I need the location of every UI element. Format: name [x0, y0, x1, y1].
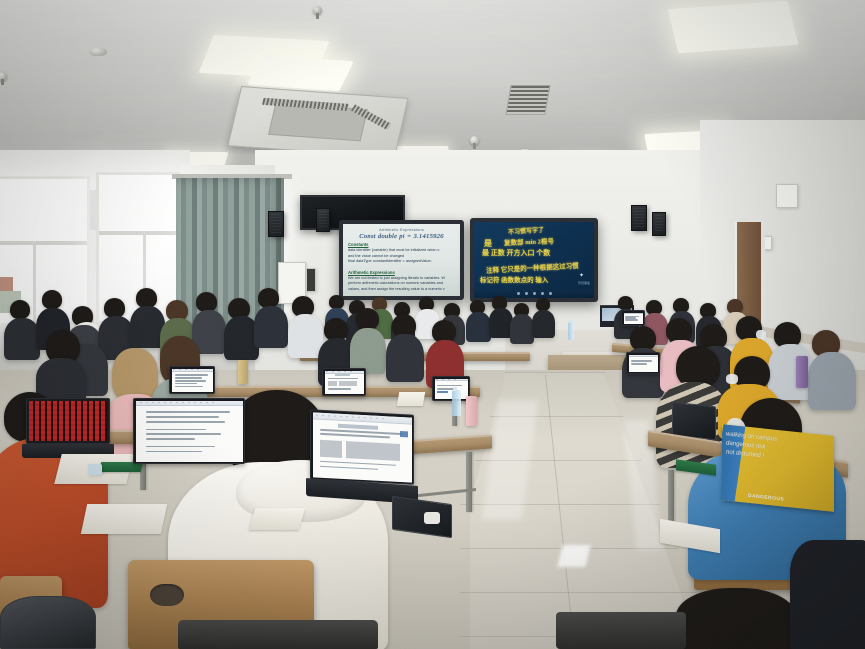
bag-brand-text: DANGEROUS	[748, 493, 784, 503]
doc-text-line	[625, 319, 638, 321]
doc-text-line	[437, 385, 461, 387]
slide-line: values, and then assign the resulting va…	[348, 287, 456, 293]
student-body	[386, 334, 424, 382]
whiteboard-add-icon[interactable]: ✦	[579, 274, 584, 279]
student-head	[136, 288, 157, 308]
student-laptop[interactable]	[621, 310, 645, 326]
whiteboard-handwriting: 最 正数 开方入口 个数	[482, 248, 550, 258]
face-mask	[726, 374, 738, 384]
doc-title-bar	[338, 424, 378, 430]
doc-text-line	[328, 388, 351, 390]
student-head	[356, 308, 379, 330]
student-laptop[interactable]	[133, 398, 245, 464]
sprinkler-head	[313, 6, 322, 15]
doc-text-line	[631, 360, 652, 362]
gaming-laptop[interactable]	[26, 398, 110, 444]
sprinkler-head	[470, 136, 479, 145]
doc-toolbar	[629, 355, 658, 357]
backlit-keyboard[interactable]	[29, 401, 107, 441]
doc-text-line	[175, 374, 208, 376]
ac-cassette-unit	[227, 86, 408, 158]
lecture-slide-screen[interactable]: Arithmetic Expressions Const double pi =…	[339, 220, 464, 300]
doc-text-line	[631, 363, 647, 365]
student-body	[808, 352, 856, 410]
doc-text-line	[146, 411, 229, 413]
doc-text-line	[175, 377, 202, 379]
pen-tool-icon[interactable]	[517, 292, 520, 295]
whiteboard-handwriting: 复数部 min 2根号	[504, 235, 554, 247]
student-head	[10, 300, 30, 319]
laptop-screen	[621, 310, 645, 326]
doc-text-line	[175, 386, 204, 388]
doc-text-line	[146, 416, 219, 418]
shape-tool-icon[interactable]	[533, 292, 536, 295]
water-bottle[interactable]	[568, 322, 574, 340]
notebook-page	[81, 504, 167, 534]
water-bottle[interactable]	[452, 390, 461, 416]
window-mullion	[33, 241, 36, 323]
doc-table-block	[328, 381, 337, 387]
clear-tool-icon[interactable]	[549, 292, 552, 295]
doc-toolbar	[313, 412, 412, 425]
paper-sheet	[249, 508, 305, 530]
slide-header: Arithmetic Expressions	[347, 227, 456, 232]
document-window	[313, 412, 412, 482]
student-laptop[interactable]	[432, 376, 470, 401]
student-body	[790, 540, 865, 649]
led-panel	[247, 55, 353, 92]
ceiling-air-vent	[505, 85, 550, 115]
student-body	[288, 314, 323, 358]
document-window	[172, 369, 213, 392]
tissue-pack	[88, 464, 102, 475]
doc-toolbar	[435, 379, 468, 382]
doc-text-line	[146, 446, 214, 448]
backpack	[0, 596, 96, 649]
laptop-screen	[310, 409, 414, 484]
chair-seat	[178, 620, 378, 649]
pink-thermos[interactable]	[466, 396, 477, 426]
laptop-screen	[133, 398, 245, 464]
doc-text-line	[328, 378, 358, 380]
doc-text-line	[146, 438, 195, 440]
classroom-photo: Arithmetic Expressions Const double pi =…	[0, 0, 865, 649]
student-body	[532, 310, 555, 338]
window-mullion	[99, 231, 177, 235]
student-head	[104, 298, 125, 318]
wall-speaker	[652, 212, 666, 236]
laptop-screen	[26, 398, 110, 444]
bag-print-text: walking on campus dangerous risk not dis…	[726, 431, 831, 469]
laptop-screen	[322, 368, 366, 396]
slide-content: Arithmetic Expressions Const double pi =…	[343, 224, 460, 296]
window-mullion	[0, 241, 87, 245]
student-body	[254, 306, 288, 348]
desk-leg	[466, 452, 472, 512]
slide-heading-constants: Constants	[348, 242, 456, 247]
doc-toolbar	[624, 313, 643, 315]
whiteboard-handwriting: 注释 它只是的一种根据这过习惯	[486, 260, 579, 275]
laptop-screen	[626, 352, 660, 374]
whiteboard-canvas[interactable]: 不习惯写字了 复数部 min 2根号 最 正数 开方入口 个数 注释 它只是的一…	[474, 222, 594, 298]
document-window	[629, 355, 658, 372]
tote-bag: walking on campus dangerous risk not dis…	[722, 424, 834, 512]
laptop-screen	[432, 376, 470, 401]
doc-text-line	[320, 466, 377, 471]
doc-highlight	[437, 391, 448, 393]
doc-text-line	[320, 460, 395, 466]
chair-seat	[556, 612, 686, 649]
whiteboard-handwriting: 不习惯写字了	[508, 225, 545, 236]
outside-view	[0, 277, 13, 291]
thermos-bottle[interactable]	[238, 360, 248, 384]
wall-speaker	[631, 205, 647, 231]
doc-toolbar	[172, 369, 213, 372]
doc-text-line	[146, 451, 202, 453]
document-window	[136, 401, 243, 462]
slide-handwritten-equation: Const double pi = 3.1415926	[347, 233, 456, 240]
whiteboard-handwriting: 是	[484, 238, 492, 249]
smoke-detector	[89, 48, 107, 56]
wall-vent-panel	[776, 184, 798, 208]
slide-heading-arithmetic: Arithmetic Expressions	[348, 270, 456, 275]
doc-toolbar	[136, 401, 243, 406]
student-head	[42, 290, 62, 309]
document-window	[435, 379, 468, 399]
doc-text-line	[175, 380, 206, 382]
student-head	[196, 292, 217, 312]
student-body	[466, 312, 491, 342]
document-window	[325, 371, 364, 394]
laptop-screen	[169, 366, 215, 394]
doc-text-line	[146, 433, 221, 435]
doc-text-line	[146, 421, 225, 423]
undo-tool-icon[interactable]	[541, 292, 544, 295]
doc-text-line	[175, 383, 197, 385]
eraser	[424, 512, 440, 524]
doc-text-line	[146, 429, 206, 431]
floor-light-reflection	[557, 545, 590, 567]
doc-table-block	[346, 441, 399, 461]
paper-sheet	[397, 392, 425, 406]
student-head-foreground	[676, 588, 796, 649]
doc-title-bar	[335, 374, 351, 375]
wall-speaker	[316, 208, 330, 232]
student-laptop[interactable]	[626, 352, 660, 374]
student-body	[510, 314, 534, 344]
student-laptop[interactable]	[169, 366, 215, 394]
purple-tumbler[interactable]	[796, 356, 808, 388]
student-head	[258, 288, 279, 308]
led-panel	[668, 1, 799, 54]
whiteboard-handwriting: 标记符 函数数点的 输入	[480, 274, 548, 284]
slide-line: final dataType constantIdentifier = assi…	[348, 259, 456, 265]
student-laptop[interactable]	[310, 409, 414, 484]
face-mask	[756, 330, 766, 339]
doc-table-block	[339, 381, 358, 387]
chair-hand-cutout	[150, 584, 184, 606]
student-laptop[interactable]	[322, 368, 366, 396]
doc-sidebar-icon	[400, 431, 408, 438]
eraser-tool-icon[interactable]	[525, 292, 528, 295]
digital-whiteboard[interactable]: 不习惯写字了 复数部 min 2根号 最 正数 开方入口 个数 注释 它只是的一…	[470, 218, 598, 302]
doc-table-block	[320, 440, 342, 458]
wall-intercom[interactable]	[306, 268, 316, 292]
wall-speaker	[268, 211, 284, 237]
student-head	[618, 296, 633, 310]
document-window	[624, 313, 643, 324]
student-head	[329, 295, 344, 309]
whiteboard-toolbar[interactable]	[474, 289, 594, 298]
whiteboard-brand-badge: 智慧黑板	[578, 281, 590, 285]
student-body	[4, 318, 40, 360]
